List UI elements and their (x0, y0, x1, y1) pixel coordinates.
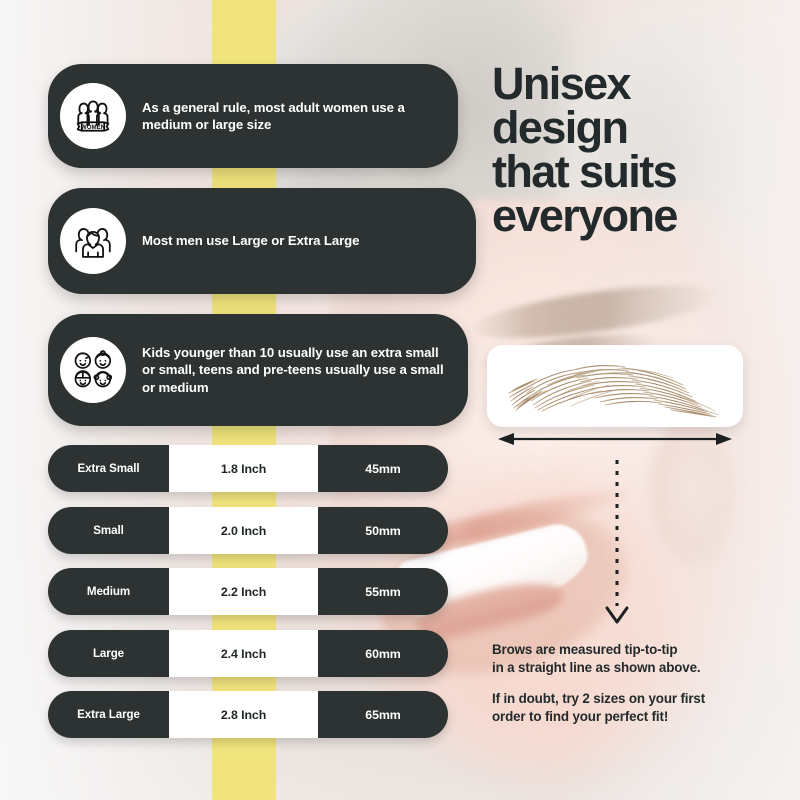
info-card-kids-text: Kids younger than 10 usually use an extr… (142, 344, 468, 396)
size-inches: 2.4 Inch (169, 630, 318, 677)
headline-line-4: everyone (492, 194, 792, 238)
info-card-kids: Kids younger than 10 usually use an extr… (48, 314, 468, 426)
card2-line-2: Extra Large (288, 233, 359, 248)
info-card-men-text: Most men use Large or Extra Large (142, 232, 375, 249)
size-row-large[interactable]: Large 2.4 Inch 60mm (48, 630, 448, 677)
size-name: Small (48, 507, 169, 554)
card2-line-1: Most men use Large or (142, 233, 284, 248)
page-title: Unisex design that suits everyone (492, 62, 792, 238)
note2-line-1: If in doubt, try 2 sizes on your first (492, 690, 792, 708)
info-card-women: WOMEN As a general rule, most adult wome… (48, 64, 458, 168)
headline-line-2: design (492, 106, 792, 150)
size-mm: 65mm (318, 691, 448, 738)
tip-to-tip-measure-arrow (496, 430, 734, 448)
size-row-extra-small[interactable]: Extra Small 1.8 Inch 45mm (48, 445, 448, 492)
size-inches: 1.8 Inch (169, 445, 318, 492)
card3-line-1: Kids younger than 10 (142, 345, 274, 360)
size-row-medium[interactable]: Medium 2.2 Inch 55mm (48, 568, 448, 615)
headline-line-1: Unisex (492, 62, 792, 106)
size-name: Medium (48, 568, 169, 615)
size-name: Extra Large (48, 691, 169, 738)
size-mm: 55mm (318, 568, 448, 615)
size-row-small[interactable]: Small 2.0 Inch 50mm (48, 507, 448, 554)
size-mm: 60mm (318, 630, 448, 677)
info-card-women-text: As a general rule, most adult women use … (142, 99, 458, 134)
size-mm: 45mm (318, 445, 448, 492)
downward-dashed-arrow (600, 458, 634, 628)
eyebrow-swatch-card (487, 345, 743, 427)
women-banner-text: WOMEN (81, 124, 106, 131)
size-name: Extra Small (48, 445, 169, 492)
size-inches: 2.2 Inch (169, 568, 318, 615)
men-group-icon (60, 208, 126, 274)
size-inches: 2.0 Inch (169, 507, 318, 554)
sizing-advice-note: If in doubt, try 2 sizes on your first o… (492, 690, 792, 726)
note2-line-2: order to find your perfect fit! (492, 708, 792, 726)
kids-faces-icon (60, 337, 126, 403)
infographic-canvas: WOMEN As a general rule, most adult wome… (0, 0, 800, 800)
card3-line-3: small, teens and pre-teens (159, 362, 322, 377)
size-row-extra-large[interactable]: Extra Large 2.8 Inch 65mm (48, 691, 448, 738)
women-group-icon: WOMEN (60, 83, 126, 149)
info-card-men: Most men use Large or Extra Large (48, 188, 476, 294)
headline-line-3: that suits (492, 150, 792, 194)
card1-line-1: As a general rule, most adult (142, 100, 319, 115)
measurement-note: Brows are measured tip-to-tip in a strai… (492, 641, 792, 677)
eyebrow-swatch-image (487, 345, 743, 427)
size-name: Large (48, 630, 169, 677)
size-inches: 2.8 Inch (169, 691, 318, 738)
size-mm: 50mm (318, 507, 448, 554)
note1-line-1: Brows are measured tip-to-tip (492, 641, 792, 659)
note1-line-2: in a straight line as shown above. (492, 659, 792, 677)
